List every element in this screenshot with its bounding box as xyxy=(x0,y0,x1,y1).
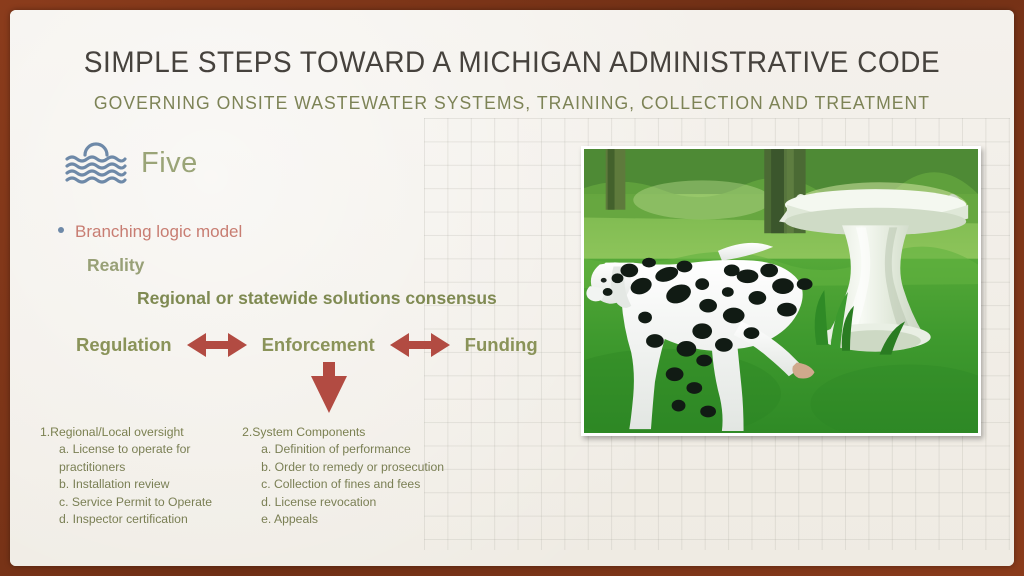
list-item-letter: e. xyxy=(261,512,271,526)
list-item: b. Installation review xyxy=(40,476,212,493)
list-item-letter: d. xyxy=(261,495,271,509)
list-2-heading: 2.System Components xyxy=(242,424,444,441)
bullet-item: Branching logic model xyxy=(58,222,242,242)
list-item: a. Definition of performance xyxy=(242,441,444,458)
chain-word-funding: Funding xyxy=(465,334,538,356)
list-item-text: Inspector certification xyxy=(73,512,188,526)
bullet-dot-icon xyxy=(58,227,64,233)
list-item-text: Order to remedy or prosecution xyxy=(275,460,444,474)
list-item-continuation: practitioners xyxy=(40,459,212,476)
list-item: d. Inspector certification xyxy=(40,511,212,528)
dalmatian-urinating-on-birdbath-photo xyxy=(581,146,981,436)
section-heading: Five xyxy=(65,140,198,186)
list-column-1: 1.Regional/Local oversight a. License to… xyxy=(40,424,212,528)
list-item-text: License revocation xyxy=(275,495,377,509)
double-headed-arrow-icon-left xyxy=(186,330,248,360)
list-item-letter: a. xyxy=(261,442,271,456)
slide-outer-frame: SIMPLE STEPS TOWARD A MICHIGAN ADMINISTR… xyxy=(0,0,1024,576)
chain-word-regulation: Regulation xyxy=(76,334,172,356)
list-item: d. License revocation xyxy=(242,494,444,511)
list-item-letter: b. xyxy=(59,477,69,491)
list-item-text: Definition of performance xyxy=(275,442,411,456)
sunrise-over-water-icon xyxy=(65,140,127,186)
list-item: e. Appeals xyxy=(242,511,444,528)
list-item-letter: c. xyxy=(261,477,270,491)
list-item-text: Appeals xyxy=(274,512,318,526)
list-1-number: 1. xyxy=(40,425,50,439)
list-2-number: 2. xyxy=(242,425,252,439)
reality-line: Reality xyxy=(87,255,144,276)
regulation-enforcement-funding-chain: Regulation Enforcement Funding xyxy=(76,330,556,360)
list-2-heading-text: System Components xyxy=(252,425,365,439)
list-item: c. Service Permit to Operate xyxy=(40,494,212,511)
chain-word-enforcement: Enforcement xyxy=(262,334,375,356)
slide-panel: SIMPLE STEPS TOWARD A MICHIGAN ADMINISTR… xyxy=(10,10,1014,566)
consensus-line: Regional or statewide solutions consensu… xyxy=(137,288,497,309)
list-item-letter: d. xyxy=(59,512,69,526)
list-item: b. Order to remedy or prosecution xyxy=(242,459,444,476)
slide-title: SIMPLE STEPS TOWARD A MICHIGAN ADMINISTR… xyxy=(45,46,979,80)
list-item-text: Collection of fines and fees xyxy=(274,477,420,491)
list-item: a. License to operate for xyxy=(40,441,212,458)
list-item-text: Service Permit to Operate xyxy=(72,495,212,509)
down-arrow-icon xyxy=(307,362,351,414)
section-label: Five xyxy=(141,147,198,180)
list-1-heading: 1.Regional/Local oversight xyxy=(40,424,212,441)
double-headed-arrow-icon-right xyxy=(389,330,451,360)
list-item-letter: b. xyxy=(261,460,271,474)
numbered-lists: 1.Regional/Local oversight a. License to… xyxy=(40,424,560,528)
bullet-item-label: Branching logic model xyxy=(75,222,242,242)
slide-subtitle: GOVERNING ONSITE WASTEWATER SYSTEMS, TRA… xyxy=(35,92,989,114)
list-item-text: License to operate for xyxy=(73,442,191,456)
list-item-letter: c. xyxy=(59,495,68,509)
list-item: c. Collection of fines and fees xyxy=(242,476,444,493)
list-column-2: 2.System Components a. Definition of per… xyxy=(242,424,444,528)
list-1-heading-text: Regional/Local oversight xyxy=(50,425,183,439)
list-item-text: Installation review xyxy=(73,477,170,491)
list-item-letter: a. xyxy=(59,442,69,456)
